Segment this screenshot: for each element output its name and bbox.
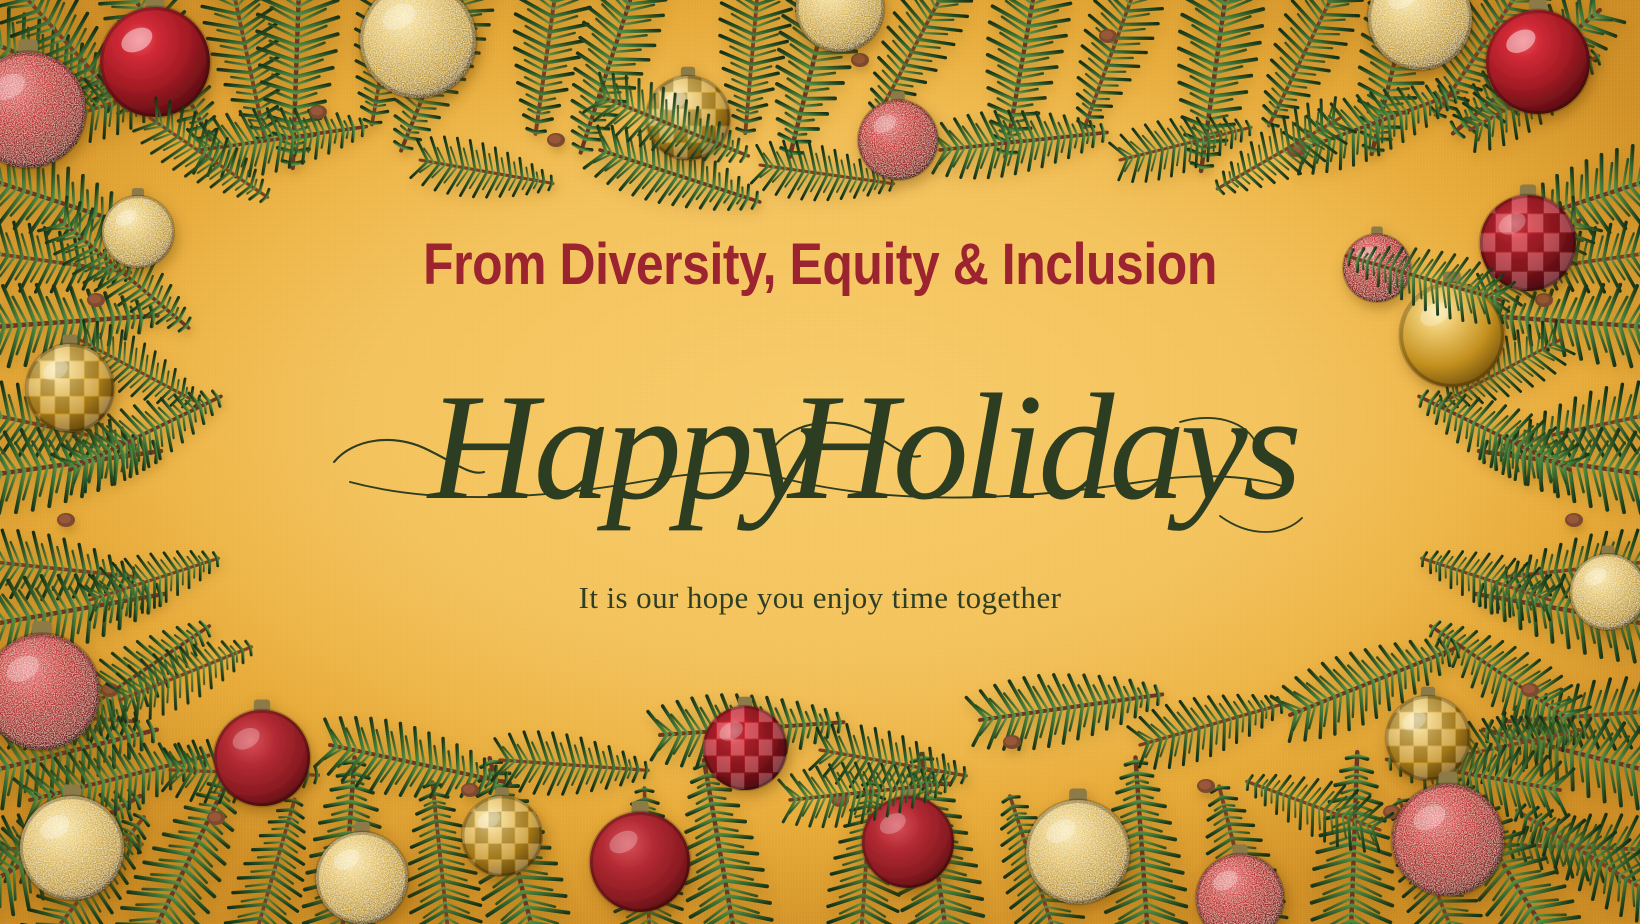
gold-glitter-bauble-right-edge — [1570, 546, 1640, 630]
gold-glitter-bauble-top — [360, 0, 476, 98]
gold-faceted-bauble-left — [26, 334, 114, 432]
foliage-frame-svg — [0, 0, 1640, 924]
script-greeting-svg: Happy Holidays — [320, 330, 1320, 560]
script-greeting: Happy Holidays — [0, 330, 1640, 560]
red-glitter-bauble-right-bot — [1392, 772, 1504, 896]
red-glossy-bauble-top-right — [1486, 0, 1590, 114]
foliage-top — [0, 0, 1632, 233]
card-tagline: It is our hope you enjoy time together — [0, 580, 1640, 616]
gold-glitter-bauble-top-right — [796, 0, 884, 52]
red-faceted-bauble-center-bot — [703, 697, 787, 790]
page-title: From Diversity, Equity & Inclusion — [115, 231, 1525, 298]
gold-faceted-bauble-right-bot — [1386, 687, 1470, 780]
gold-glitter-bauble-left — [102, 188, 174, 268]
red-matte-bauble-bottom-r — [862, 786, 954, 888]
script-word-happy: Happy — [426, 363, 818, 531]
card-text-block: From Diversity, Equity & Inclusion Happy… — [0, 0, 1640, 924]
gold-glitter-bauble-bot-left — [20, 785, 124, 900]
red-glitter-bauble-bottom-r — [1196, 844, 1284, 924]
christmas-border-decoration — [0, 0, 1640, 924]
foliage-right — [1405, 130, 1640, 884]
red-matte-bauble-left-lower — [214, 699, 310, 806]
red-glitter-bauble-top-mid — [858, 91, 938, 180]
red-glitter-bauble-right — [1343, 227, 1411, 302]
script-word-holidays: Holidays — [786, 363, 1298, 531]
gold-glitter-bauble-bottom — [316, 822, 408, 924]
gold-glitter-bauble-upper-r — [1368, 0, 1472, 70]
foliage-left — [0, 130, 235, 884]
red-glossy-bauble-top-left — [100, 0, 210, 117]
red-matte-bauble-bottom-mid — [590, 801, 690, 912]
paper-texture-overlay — [0, 0, 1640, 924]
vignette-overlay — [0, 0, 1640, 924]
foliage-front-overlap — [103, 64, 1517, 860]
foliage-bottom — [0, 613, 1640, 924]
red-faceted-bauble-right — [1480, 184, 1576, 291]
gold-faceted-bauble-top-mid — [646, 67, 730, 160]
holiday-greeting-card: From Diversity, Equity & Inclusion Happy… — [0, 0, 1640, 924]
red-glitter-bauble-left-edge — [0, 39, 86, 168]
gold-faceted-bauble-bottom — [462, 787, 542, 876]
gold-matte-bauble-right — [1400, 272, 1504, 387]
red-glitter-bauble-lower-left — [0, 621, 100, 750]
gold-glitter-bauble-bot-mid — [1026, 789, 1130, 904]
ornament-group — [0, 0, 1640, 924]
